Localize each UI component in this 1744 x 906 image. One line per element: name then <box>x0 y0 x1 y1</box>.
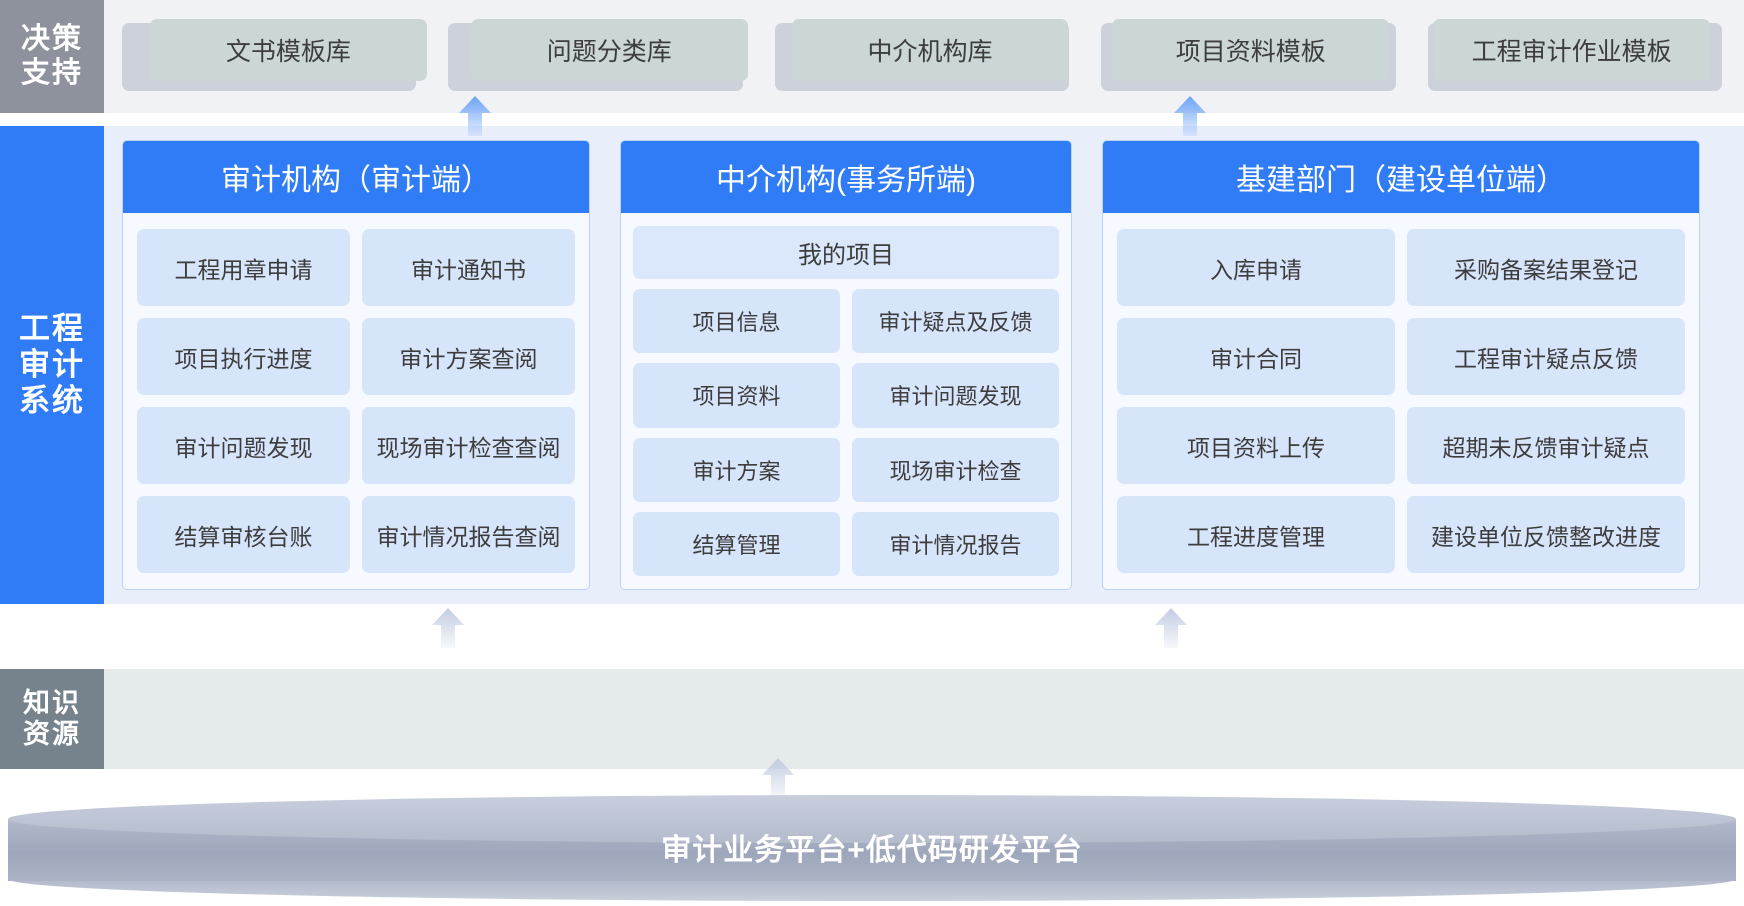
knowledge-item-agency-library[interactable]: 中介机构库 <box>792 19 1069 81</box>
column-construction-department: 基建部门（建设单位端） 入库申请 采购备案结果登记 审计合同 工程审计疑点反馈 … <box>1102 140 1700 590</box>
tile-my-projects[interactable]: 我的项目 <box>633 226 1059 279</box>
tile-engineering-seal-application[interactable]: 工程用章申请 <box>137 229 350 306</box>
column-audit-institution-body: 工程用章申请 审计通知书 项目执行进度 审计方案查阅 审计问题发现 现场审计检查… <box>123 213 589 589</box>
tile-settlement-review-ledger[interactable]: 结算审核台账 <box>137 496 350 573</box>
knowledge-item-project-material-template[interactable]: 项目资料模板 <box>1112 19 1389 81</box>
tile-onsite-audit-inspection-review[interactable]: 现场审计检查查阅 <box>362 407 575 484</box>
knowledge-resources-items: 文书模板库 问题分类库 中介机构库 项目资料模板 工程审计作业模板 <box>150 19 1710 81</box>
knowledge-resources-rail-label: 知识 资源 <box>0 669 104 769</box>
knowledge-rail-line-2: 资源 <box>23 719 81 750</box>
tile-row: 工程用章申请 审计通知书 <box>137 229 575 306</box>
tile-project-info[interactable]: 项目信息 <box>633 289 840 353</box>
tile-audit-status-report[interactable]: 审计情况报告 <box>852 512 1059 576</box>
tile-row: 项目信息 审计疑点及反馈 <box>633 289 1059 353</box>
column-audit-institution-title: 审计机构（审计端） <box>123 141 589 213</box>
column-construction-department-title: 基建部门（建设单位端） <box>1103 141 1699 213</box>
tile-settlement-management[interactable]: 结算管理 <box>633 512 840 576</box>
tile-row: 结算审核台账 审计情况报告查阅 <box>137 496 575 573</box>
system-rail-line-1: 工程 <box>19 311 85 347</box>
tile-row: 审计方案 现场审计检查 <box>633 438 1059 502</box>
tile-audit-contract[interactable]: 审计合同 <box>1117 318 1395 395</box>
column-intermediary-agency: 中介机构(事务所端) 我的项目 项目信息 审计疑点及反馈 项目资料 审计问题发现… <box>620 140 1072 590</box>
knowledge-item-document-template-library[interactable]: 文书模板库 <box>150 19 427 81</box>
tile-row: 结算管理 审计情况报告 <box>633 512 1059 576</box>
system-columns: 审计机构（审计端） 工程用章申请 审计通知书 项目执行进度 审计方案查阅 审计问… <box>122 140 1730 590</box>
tile-procurement-record-registration[interactable]: 采购备案结果登记 <box>1407 229 1685 306</box>
tile-onsite-audit-inspection[interactable]: 现场审计检查 <box>852 438 1059 502</box>
engineering-audit-system-rail-label: 工程 审计 系统 <box>0 126 104 604</box>
tile-audit-report-review[interactable]: 审计情况报告查阅 <box>362 496 575 573</box>
arrow-knowledge-to-constr-icon <box>1153 608 1189 648</box>
tile-engineering-progress-management[interactable]: 工程进度管理 <box>1117 496 1395 573</box>
column-intermediary-agency-body: 我的项目 项目信息 审计疑点及反馈 项目资料 审计问题发现 审计方案 现场审计检… <box>621 213 1071 589</box>
column-construction-department-body: 入库申请 采购备案结果登记 审计合同 工程审计疑点反馈 项目资料上传 超期未反馈… <box>1103 213 1699 589</box>
column-intermediary-agency-title: 中介机构(事务所端) <box>621 141 1071 213</box>
tile-row: 入库申请 采购备案结果登记 <box>1117 229 1685 306</box>
arrow-agency-to-decision-icon <box>457 96 493 136</box>
system-rail-line-3: 系统 <box>19 383 85 419</box>
decision-rail-line-1: 决策 <box>21 23 83 57</box>
platform-cylinder: 审计业务平台+低代码研发平台 <box>8 795 1736 899</box>
column-audit-institution: 审计机构（审计端） 工程用章申请 审计通知书 项目执行进度 审计方案查阅 审计问… <box>122 140 590 590</box>
tile-row: 项目资料 审计问题发现 <box>633 363 1059 427</box>
knowledge-item-audit-work-template[interactable]: 工程审计作业模板 <box>1433 19 1710 81</box>
tile-row: 工程进度管理 建设单位反馈整改进度 <box>1117 496 1685 573</box>
arrow-constr-to-decision-icon <box>1172 96 1208 136</box>
knowledge-rail-line-1: 知识 <box>23 688 81 719</box>
tile-audit-plan-review[interactable]: 审计方案查阅 <box>362 318 575 395</box>
tile-audit-doubt-feedback[interactable]: 审计疑点及反馈 <box>852 289 1059 353</box>
tile-audit-plan[interactable]: 审计方案 <box>633 438 840 502</box>
tile-audit-notice[interactable]: 审计通知书 <box>362 229 575 306</box>
system-rail-line-2: 审计 <box>19 347 85 383</box>
tile-project-materials[interactable]: 项目资料 <box>633 363 840 427</box>
decision-support-rail-label: 决策 支持 <box>0 0 104 113</box>
decision-rail-line-2: 支持 <box>21 57 83 91</box>
tile-project-material-upload[interactable]: 项目资料上传 <box>1117 407 1395 484</box>
tile-engineering-audit-doubt-feedback[interactable]: 工程审计疑点反馈 <box>1407 318 1685 395</box>
arrow-knowledge-to-audit-icon <box>430 608 466 648</box>
engineering-audit-system-band: 审计机构（审计端） 工程用章申请 审计通知书 项目执行进度 审计方案查阅 审计问… <box>0 126 1744 604</box>
tile-warehouse-entry-application[interactable]: 入库申请 <box>1117 229 1395 306</box>
tile-row: 项目资料上传 超期未反馈审计疑点 <box>1117 407 1685 484</box>
tile-audit-issue-discovery[interactable]: 审计问题发现 <box>852 363 1059 427</box>
tile-row: 项目执行进度 审计方案查阅 <box>137 318 575 395</box>
knowledge-resources-band <box>0 669 1744 769</box>
arrow-platform-to-knowledge-icon <box>760 758 796 798</box>
platform-label: 审计业务平台+低代码研发平台 <box>8 795 1736 899</box>
knowledge-item-issue-category-library[interactable]: 问题分类库 <box>471 19 748 81</box>
tile-construction-unit-rectification-progress[interactable]: 建设单位反馈整改进度 <box>1407 496 1685 573</box>
tile-overdue-unanswered-audit-doubts[interactable]: 超期未反馈审计疑点 <box>1407 407 1685 484</box>
architecture-diagram: 决策 支持 计划情况/汇总表 项目汇总台账 发现问题汇总统计 工程结算审核情况表… <box>0 0 1744 906</box>
tile-project-execution-progress[interactable]: 项目执行进度 <box>137 318 350 395</box>
tile-row: 审计合同 工程审计疑点反馈 <box>1117 318 1685 395</box>
tile-audit-issue-discovery[interactable]: 审计问题发现 <box>137 407 350 484</box>
tile-row: 审计问题发现 现场审计检查查阅 <box>137 407 575 484</box>
